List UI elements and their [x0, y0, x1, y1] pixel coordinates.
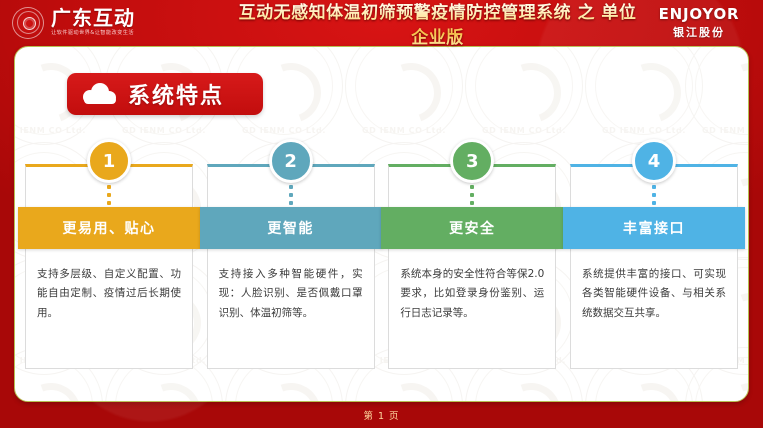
- card-number-badge: 3: [450, 139, 494, 183]
- watermark-text: GD IENM CO Ltd.: [466, 126, 582, 135]
- partner-logo: ENJOYOR 银江股份: [645, 5, 763, 40]
- card-number-badge: 1: [87, 139, 131, 183]
- card-box: 更智能支持接入多种智能硬件，实现：人脸识别、是否佩戴口罩识别、体温初筛等。: [207, 164, 375, 369]
- slide-background: 广东互动 让软件驱动世界&让智能改变生活 互动无感知体温初筛预警疫情防控管理系统…: [0, 0, 763, 428]
- card-title-banner: 更安全: [381, 207, 563, 249]
- card-box: 丰富接口系统提供丰富的接口、可实现各类智能硬件设备、与相关系统数据交互共享。: [570, 164, 738, 369]
- company-seal-icon: [12, 7, 44, 39]
- watermark-mark: GD IENM CO Ltd.: [585, 46, 703, 145]
- feature-card-4[interactable]: 4丰富接口系统提供丰富的接口、可实现各类智能硬件设备、与相关系统数据交互共享。: [570, 139, 738, 369]
- card-number-badge: 4: [632, 139, 676, 183]
- watermark-mark: GD IENM CO Ltd.: [685, 46, 749, 145]
- content-board: GD IENM CO Ltd.GD IENM CO Ltd.GD IENM CO…: [14, 46, 749, 402]
- section-header: 系统特点: [67, 73, 263, 115]
- cloud-icon: [83, 85, 117, 104]
- watermark-text: GD IENM CO Ltd.: [586, 126, 702, 135]
- card-body-text: 支持接入多种智能硬件，实现：人脸识别、是否佩戴口罩识别、体温初筛等。: [208, 249, 374, 335]
- feature-cards-row: 1更易用、贴心支持多层级、自定义配置、功能自由定制、疫情过后长期使用。2更智能支…: [15, 139, 748, 369]
- card-title-banner: 更易用、贴心: [18, 207, 200, 249]
- card-title-banner: 更智能: [200, 207, 382, 249]
- watermark-text: GD IENM CO Ltd.: [226, 126, 342, 135]
- card-body-text: 支持多层级、自定义配置、功能自由定制、疫情过后长期使用。: [26, 249, 192, 335]
- feature-card-3[interactable]: 3更安全系统本身的安全性符合等保2.0要求，比如登录身份鉴别、运行日志记录等。: [388, 139, 556, 369]
- section-title: 系统特点: [128, 78, 224, 110]
- watermark-text: GD IENM CO Ltd.: [686, 126, 749, 135]
- brand-name: 广东互动: [51, 8, 138, 28]
- partner-name-cn: 银江股份: [645, 24, 753, 40]
- card-body-text: 系统提供丰富的接口、可实现各类智能硬件设备、与相关系统数据交互共享。: [571, 249, 737, 335]
- brand-text: 广东互动 让软件驱动世界&让智能改变生活: [51, 8, 138, 37]
- feature-card-2[interactable]: 2更智能支持接入多种智能硬件，实现：人脸识别、是否佩戴口罩识别、体温初筛等。: [207, 139, 375, 369]
- page-number: 第 1 页: [363, 408, 399, 422]
- watermark-mark: GD IENM CO Ltd.: [465, 46, 583, 145]
- page-title: 互动无感知体温初筛预警疫情防控管理系统 之 单位企业版: [230, 0, 645, 48]
- watermark-text: GD IENM CO Ltd.: [346, 126, 462, 135]
- card-body-text: 系统本身的安全性符合等保2.0要求，比如登录身份鉴别、运行日志记录等。: [389, 249, 555, 335]
- title-wrap: 互动无感知体温初筛预警疫情防控管理系统 之 单位企业版: [230, 0, 645, 48]
- slide-footer: 第 1 页: [0, 402, 763, 428]
- watermark-text: GD IENM CO Ltd.: [14, 126, 102, 135]
- card-box: 更安全系统本身的安全性符合等保2.0要求，比如登录身份鉴别、运行日志记录等。: [388, 164, 556, 369]
- brand-left: 广东互动 让软件驱动世界&让智能改变生活: [0, 7, 230, 39]
- brand-slogan: 让软件驱动世界&让智能改变生活: [51, 31, 134, 36]
- slide-header: 广东互动 让软件驱动世界&让智能改变生活 互动无感知体温初筛预警疫情防控管理系统…: [0, 0, 763, 45]
- feature-card-1[interactable]: 1更易用、贴心支持多层级、自定义配置、功能自由定制、疫情过后长期使用。: [25, 139, 193, 369]
- card-box: 更易用、贴心支持多层级、自定义配置、功能自由定制、疫情过后长期使用。: [25, 164, 193, 369]
- card-number-badge: 2: [269, 139, 313, 183]
- watermark-text: GD IENM CO Ltd.: [106, 126, 222, 135]
- partner-name: ENJOYOR: [645, 5, 753, 23]
- watermark-mark: GD IENM CO Ltd.: [345, 46, 463, 145]
- card-title-banner: 丰富接口: [563, 207, 745, 249]
